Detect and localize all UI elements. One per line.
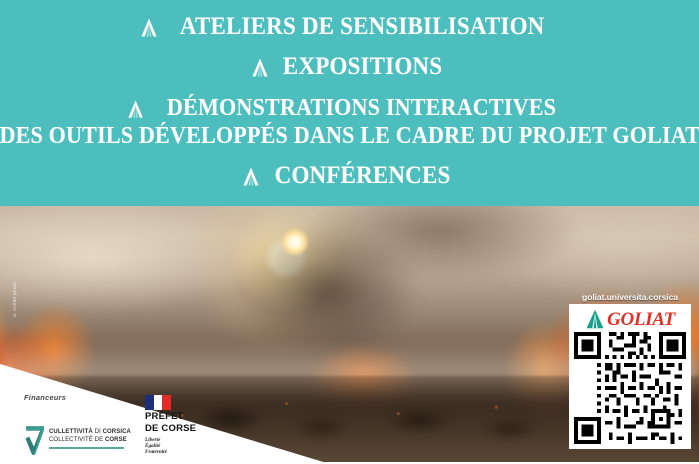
qr-block[interactable]: goliat.universita.corsica GOLIAT [566,292,694,458]
mountain-peak-icon [126,99,145,120]
header-banner: ATELIERS DE SENSIBILISATION EXPOSITIONS [0,0,699,206]
collectivite-line2-thin-b: DE [93,437,105,443]
prefet-motto: Liberté Égalité Fraternité [145,437,196,455]
collectivite-line1-bold-b: CORSICA [103,429,131,435]
photo-credit: © Crédit photo [12,282,17,318]
header-line-1: ATELIERS DE SENSIBILISATION [139,14,561,39]
check-mark-icon [24,424,46,456]
header-line-2-label: EXPOSITIONS [283,54,442,79]
motto-fraternite: Fraternité [145,449,196,455]
mountain-peak-icon [250,57,270,79]
collectivite-line2-thin-a: COLLECTIVITÉ [49,437,93,443]
goliat-logo: GOLIAT [585,308,675,330]
mountain-peak-icon [241,166,261,188]
header-line-3-label: DÉMONSTRATIONS INTERACTIVES [167,96,556,120]
french-flag-icon [145,395,171,410]
collectivite-line-2: COLLECTIVITÉ DE CORSE [49,437,131,444]
header-line-4: DES OUTILS DÉVELOPPÉS DANS LE CADRE DU P… [0,124,699,148]
collectivite-line-1: CULLETTIVITÀ DI CORSICA [49,429,131,436]
header-line-5: CONFÉRENCES [241,163,458,188]
header-line-3: DÉMONSTRATIONS INTERACTIVES [126,96,574,120]
header-line-5-label: CONFÉRENCES [274,163,450,188]
qr-code[interactable] [574,332,686,444]
mountain-peak-icon [139,17,159,39]
header-line-2: EXPOSITIONS [250,54,449,79]
header-line-1-label: ATELIERS DE SENSIBILISATION [180,14,545,39]
goliat-peak-icon [585,309,605,329]
prefet-title-line-1: PRÉFET [145,411,196,422]
collectivite-text: CULLETTIVITÀ DI CORSICA COLLECTIVITÉ DE … [49,429,131,451]
header-line-4-label: DES OUTILS DÉVELOPPÉS DANS LE CADRE DU P… [0,124,699,148]
qr-card[interactable]: GOLIAT [569,304,691,449]
collectivite-underline [49,447,124,449]
prefet-title-line-2: DE CORSE [145,423,196,434]
collectivite-line1-bold-a: CULLETTIVITÀ [49,429,93,435]
collectivite-de-corse-logo: CULLETTIVITÀ DI CORSICA COLLECTIVITÉ DE … [24,424,131,456]
prefet-de-corse-logo: PRÉFET DE CORSE Liberté Égalité Fraterni… [145,395,196,456]
funders-logos: CULLETTIVITÀ DI CORSICA COLLECTIVITÉ DE … [24,395,196,456]
collectivite-line1-thin: DI [93,429,103,435]
poster-root: ATELIERS DE SENSIBILISATION EXPOSITIONS [0,0,699,464]
goliat-wordmark: GOLIAT [607,310,675,329]
collectivite-line2-bold: CORSE [105,437,127,443]
goliat-url-label[interactable]: goliat.universita.corsica [582,292,678,302]
